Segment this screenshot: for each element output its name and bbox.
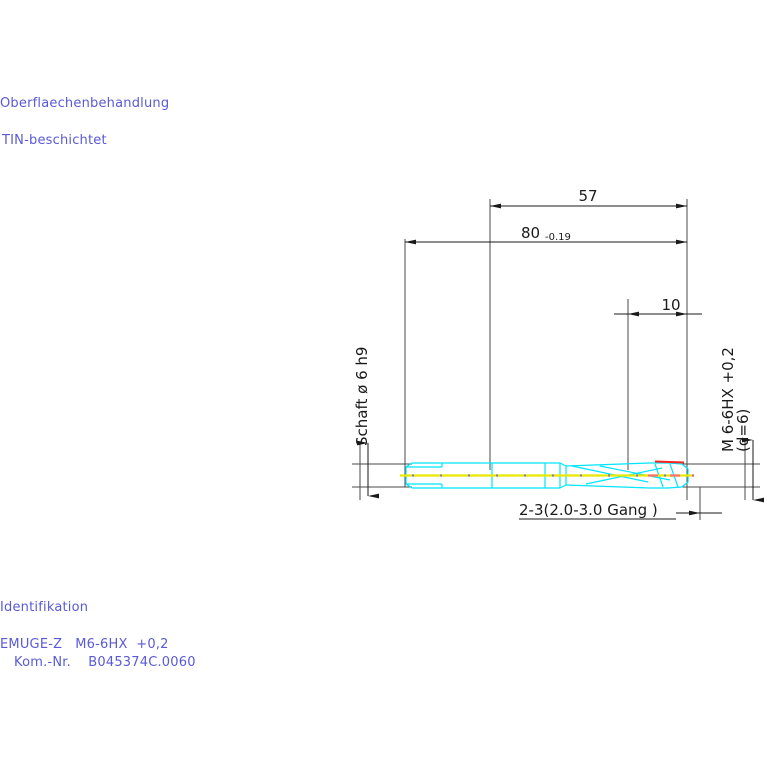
dimension-shank-label: Schaft ø 6 h9 <box>353 347 371 446</box>
dimension-chamfer-label: 2-3(2.0-3.0 Gang ) <box>519 501 658 519</box>
tap-tool-drawing: 57 80 -0.19 10 Schaft ø 6 h9 M 6-6HX +0,… <box>0 0 767 767</box>
dimension-80: 80 -0.19 <box>405 224 687 243</box>
dimension-57: 57 <box>490 187 687 206</box>
dimension-chamfer: 2-3(2.0-3.0 Gang ) <box>519 501 722 519</box>
dimension-thread-spec: M 6-6HX +0,2 (d=6) <box>719 347 753 500</box>
dimension-57-label: 57 <box>578 187 597 205</box>
dimension-80-tolerance: -0.19 <box>545 232 571 243</box>
dimension-80-label: 80 <box>521 224 540 242</box>
tool-tip-highlight <box>655 462 684 463</box>
drawing-canvas: Oberflaechenbehandlung TIN-beschichtet I… <box>0 0 767 767</box>
dimension-10-label: 10 <box>661 296 680 314</box>
dimension-shank-diameter: Schaft ø 6 h9 <box>353 347 371 496</box>
dimension-thread-core-label: (d=6) <box>734 409 752 452</box>
dimension-10: 10 <box>614 296 702 314</box>
extension-lines <box>352 199 760 520</box>
